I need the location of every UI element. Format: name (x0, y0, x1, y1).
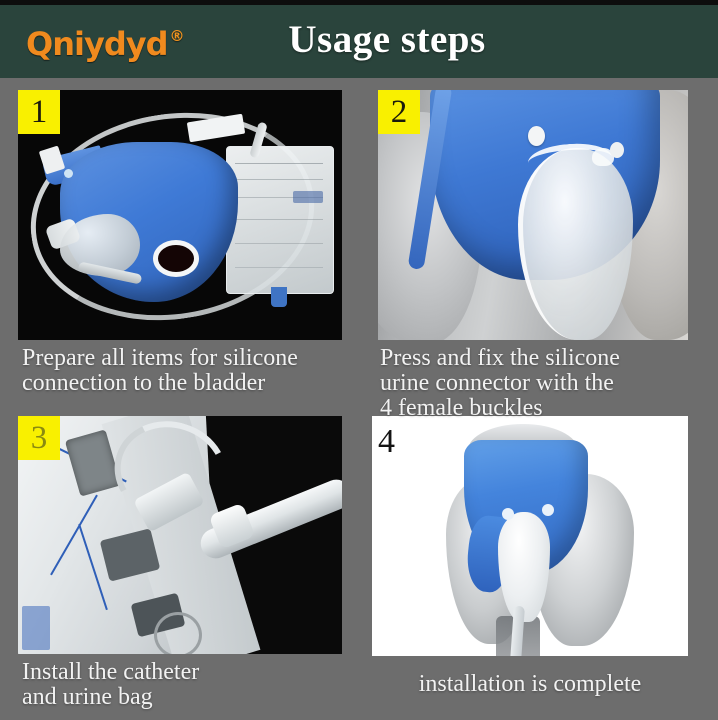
urine-bag-shape (226, 146, 334, 294)
step-2-photo: 2 (378, 90, 688, 340)
female-buckle-snap-1-shape (528, 126, 545, 146)
step-4-photo: 4 (372, 416, 688, 656)
female-buckle-snap-2-shape (610, 142, 624, 158)
page-title: Usage steps (0, 17, 718, 62)
infographic-page: Qniydyd® Usage steps (0, 0, 718, 720)
step-card-2: 2 (378, 90, 688, 340)
step-card-4: 4 (372, 416, 688, 656)
silicone-urine-connector-shape (498, 512, 550, 622)
silicone-urine-connector-shape (518, 148, 633, 340)
step-caption-1: Prepare all items for silicone connectio… (22, 346, 372, 396)
urine-bag-label-shape (293, 191, 323, 203)
brief-snap-button-shape (64, 169, 73, 178)
step-caption-3: Install the catheter and urine bag (22, 660, 352, 710)
step-badge-1: 1 (18, 90, 60, 134)
page-header: Qniydyd® Usage steps (0, 5, 718, 78)
step-badge-4: 4 (378, 420, 418, 464)
step-card-1: 1 (18, 90, 342, 340)
step-caption-4: installation is complete (372, 672, 688, 697)
step-card-3: 3 (18, 416, 342, 654)
steps-grid: 1 2 (0, 78, 718, 720)
female-buckle-snap-2-shape (542, 504, 554, 516)
step-badge-2: 2 (378, 90, 420, 134)
step-3-photo: 3 (18, 416, 342, 654)
step-caption-2: Press and fix the silicone urine connect… (380, 346, 710, 421)
urine-bag-drain-spout-shape (271, 287, 287, 307)
female-buckle-snap-1-shape (502, 508, 514, 520)
step-1-photo: 1 (18, 90, 342, 340)
step-badge-3: 3 (18, 416, 60, 460)
bag-spiral-marking-shape (154, 612, 202, 654)
brief-opening-hole-shape (158, 245, 194, 272)
bag-printed-text-shape (22, 606, 50, 650)
